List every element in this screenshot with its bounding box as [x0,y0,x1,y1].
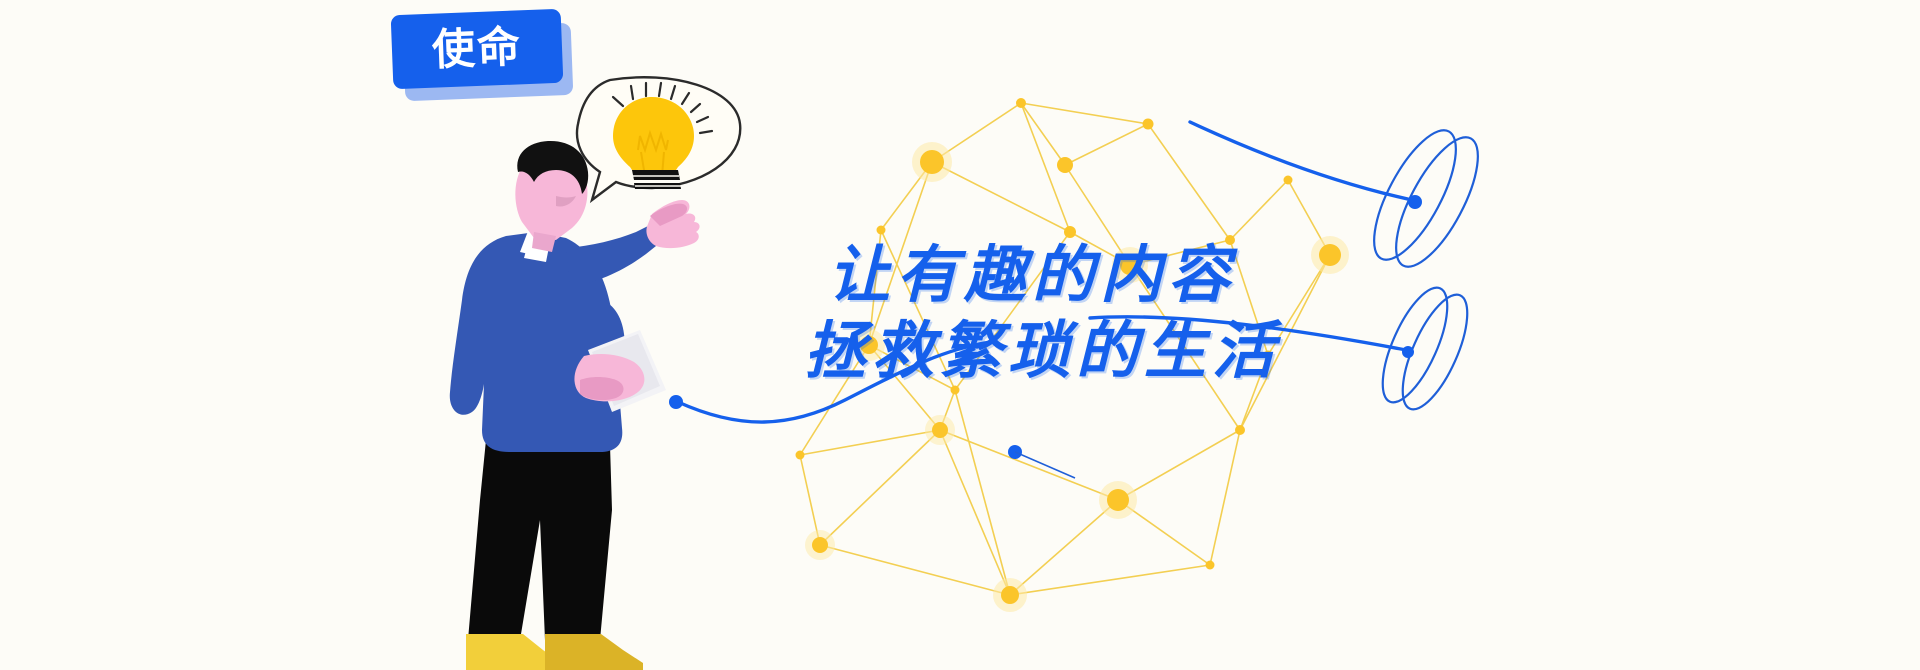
bubble-outline [577,77,740,200]
badge: 使命 [392,12,572,98]
orbit-center-dot [1408,195,1422,209]
character-shoes [466,634,643,670]
badge-label: 使命 [431,26,523,72]
character-pants [468,380,612,640]
headline-line-1: 让有趣的内容 [828,238,1468,314]
character-pointing-arm [566,200,700,286]
lightbulb-base [632,170,681,189]
lightbulb-rays [613,83,712,133]
headline-line-2: 拯救繁琐的生活 [804,314,1468,390]
badge-plate: 使命 [391,9,564,89]
mission-banner: 使命 让有趣的内容 拯救繁琐的生活 [0,0,1920,670]
lightbulb-icon [613,97,694,189]
character-clipboard-arm [574,300,666,412]
character-shirt [450,226,623,452]
stray-dot [1008,445,1022,459]
page-title: 让有趣的内容 拯救繁琐的生活 [828,238,1468,390]
character-head [515,141,588,240]
curve-end-dot [669,395,683,409]
